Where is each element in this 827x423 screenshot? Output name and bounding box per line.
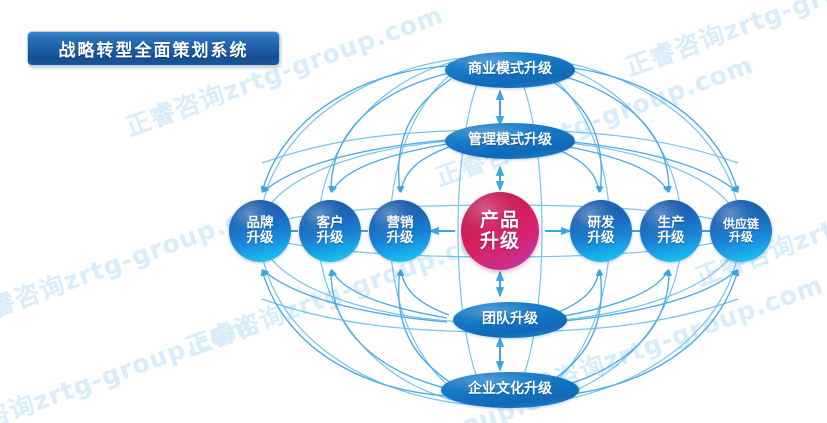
node-label-line2: 升级 bbox=[658, 231, 685, 246]
node-team-upgrade[interactable]: 团队升级 bbox=[453, 302, 567, 338]
node-label-line2: 升级 bbox=[588, 231, 615, 246]
page-title: 战略转型全面策划系统 bbox=[59, 36, 249, 61]
page-title-banner: 战略转型全面策划系统 bbox=[27, 31, 280, 66]
node-label: 商业模式升级 bbox=[468, 62, 552, 78]
arc-top-to-left bbox=[262, 66, 451, 192]
node-product-upgrade[interactable]: 产品 升级 bbox=[461, 192, 539, 270]
node-rnd-upgrade[interactable]: 研发 升级 bbox=[570, 200, 632, 262]
node-business-model-upgrade[interactable]: 商业模式升级 bbox=[445, 52, 575, 88]
arc-top-to-right bbox=[549, 66, 738, 192]
diagram-canvas: 正睿咨询zrtg-group.com 正睿咨询zrtg-group.com 正睿… bbox=[0, 0, 827, 423]
node-management-model-upgrade[interactable]: 管理模式升级 bbox=[445, 123, 575, 159]
node-label: 团队升级 bbox=[482, 312, 538, 328]
node-customer-upgrade[interactable]: 客户 升级 bbox=[299, 200, 361, 262]
node-label-line2: 升级 bbox=[247, 231, 274, 246]
node-label: 企业文化升级 bbox=[468, 382, 552, 398]
node-label: 管理模式升级 bbox=[468, 133, 552, 149]
node-label-line2: 升级 bbox=[317, 231, 344, 246]
node-label-line1: 客户 bbox=[317, 216, 344, 231]
node-label-line2: 升级 bbox=[480, 231, 520, 252]
node-label-line1: 生产 bbox=[658, 216, 685, 231]
node-production-upgrade[interactable]: 生产 升级 bbox=[640, 200, 702, 262]
node-brand-upgrade[interactable]: 品牌 升级 bbox=[229, 200, 291, 262]
node-supplychain-upgrade[interactable]: 供应链 升级 bbox=[710, 200, 772, 262]
node-label-line2: 升级 bbox=[387, 231, 414, 246]
node-culture-upgrade[interactable]: 企业文化升级 bbox=[441, 372, 579, 408]
node-marketing-upgrade[interactable]: 营销 升级 bbox=[369, 200, 431, 262]
arc-bottom-to-right bbox=[549, 270, 738, 396]
node-label-line2: 升级 bbox=[723, 231, 759, 244]
node-label-line1: 供应链 bbox=[723, 218, 759, 231]
arc-bottom-to-left bbox=[262, 270, 451, 396]
node-label-line1: 产品 bbox=[480, 210, 520, 231]
node-label-line1: 研发 bbox=[588, 216, 615, 231]
node-label-line1: 品牌 bbox=[247, 216, 274, 231]
node-label-line1: 营销 bbox=[387, 216, 414, 231]
